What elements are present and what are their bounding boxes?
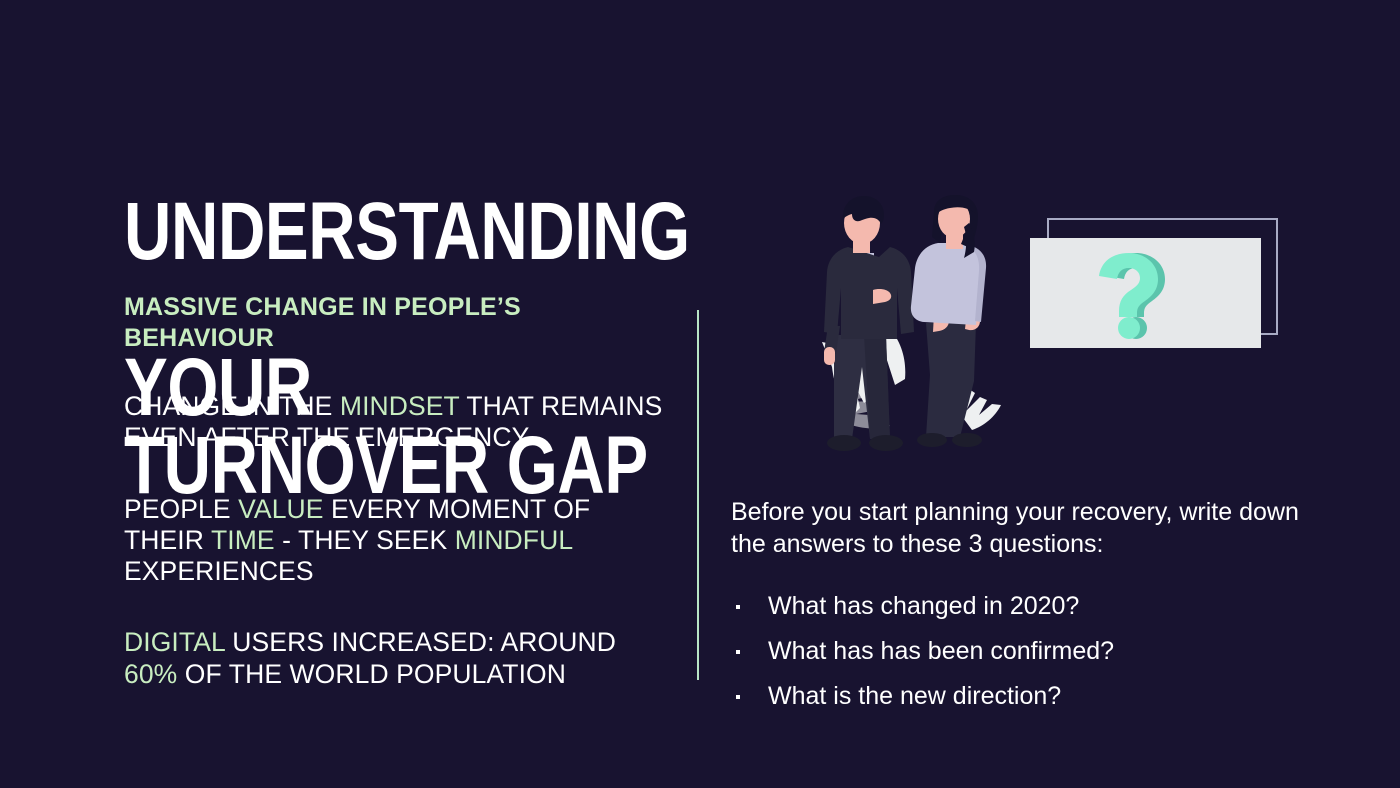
questions-list: What has changed in 2020? What has has b… xyxy=(731,594,1331,709)
question-text: What has changed in 2020? xyxy=(768,592,1079,620)
text-segment: CHANGE IN THE xyxy=(124,391,340,421)
text-segment: USERS INCREASED: AROUND xyxy=(225,627,616,657)
illustration-two-people-question-board xyxy=(740,195,1300,495)
questions-intro: Before you start planning your recovery,… xyxy=(731,497,1331,560)
right-content-column: Before you start planning your recovery,… xyxy=(731,497,1331,709)
highlight-mindset: MINDSET xyxy=(340,391,459,421)
woman-shoe-left xyxy=(917,433,947,447)
paragraph-mindset: CHANGE IN THE MINDSET THAT REMAINS EVEN … xyxy=(124,391,664,454)
text-segment: OF THE WORLD POPULATION xyxy=(177,659,566,689)
paragraph-digital: DIGITAL USERS INCREASED: AROUND 60% OF T… xyxy=(124,627,664,690)
highlight-value: VALUE xyxy=(238,494,323,524)
bullet-icon xyxy=(736,695,740,699)
lead-statement: MASSIVE CHANGE IN PEOPLE’S BEHAVIOUR xyxy=(124,292,664,353)
man-shoe-right xyxy=(869,435,903,451)
question-text: What has has been confirmed? xyxy=(768,637,1114,665)
man-hand-lower xyxy=(824,347,835,365)
paragraph-value-time: PEOPLE VALUE EVERY MOMENT OF THEIR TIME … xyxy=(124,494,664,588)
figure-man xyxy=(824,196,914,451)
man-jacket xyxy=(824,247,914,339)
left-content-column: MASSIVE CHANGE IN PEOPLE’S BEHAVIOUR CHA… xyxy=(124,292,664,690)
highlight-digital: DIGITAL xyxy=(124,627,225,657)
highlight-mindful: MINDFUL xyxy=(455,525,573,555)
man-shoe-left xyxy=(827,435,861,451)
question-text: What is the new direction? xyxy=(768,682,1061,710)
highlight-time: TIME xyxy=(211,525,275,555)
text-segment: PEOPLE xyxy=(124,494,238,524)
woman-shoe-right xyxy=(952,433,982,447)
slide-root: UNDERSTANDING YOUR TURNOVER GAP MASSIVE … xyxy=(0,0,1400,788)
list-item: What has changed in 2020? xyxy=(731,594,1331,619)
vertical-divider xyxy=(697,310,699,680)
list-item: What has has been confirmed? xyxy=(731,639,1331,664)
bullet-icon xyxy=(736,650,740,654)
text-segment: EXPERIENCES xyxy=(124,556,314,586)
page-title-line-1: UNDERSTANDING xyxy=(124,193,684,271)
bullet-icon xyxy=(736,605,740,609)
woman-blouse xyxy=(911,243,981,325)
text-segment: - THEY SEEK xyxy=(275,525,455,555)
list-item: What is the new direction? xyxy=(731,684,1331,709)
illustration-svg xyxy=(740,195,1300,495)
highlight-sixty-percent: 60% xyxy=(124,659,177,689)
